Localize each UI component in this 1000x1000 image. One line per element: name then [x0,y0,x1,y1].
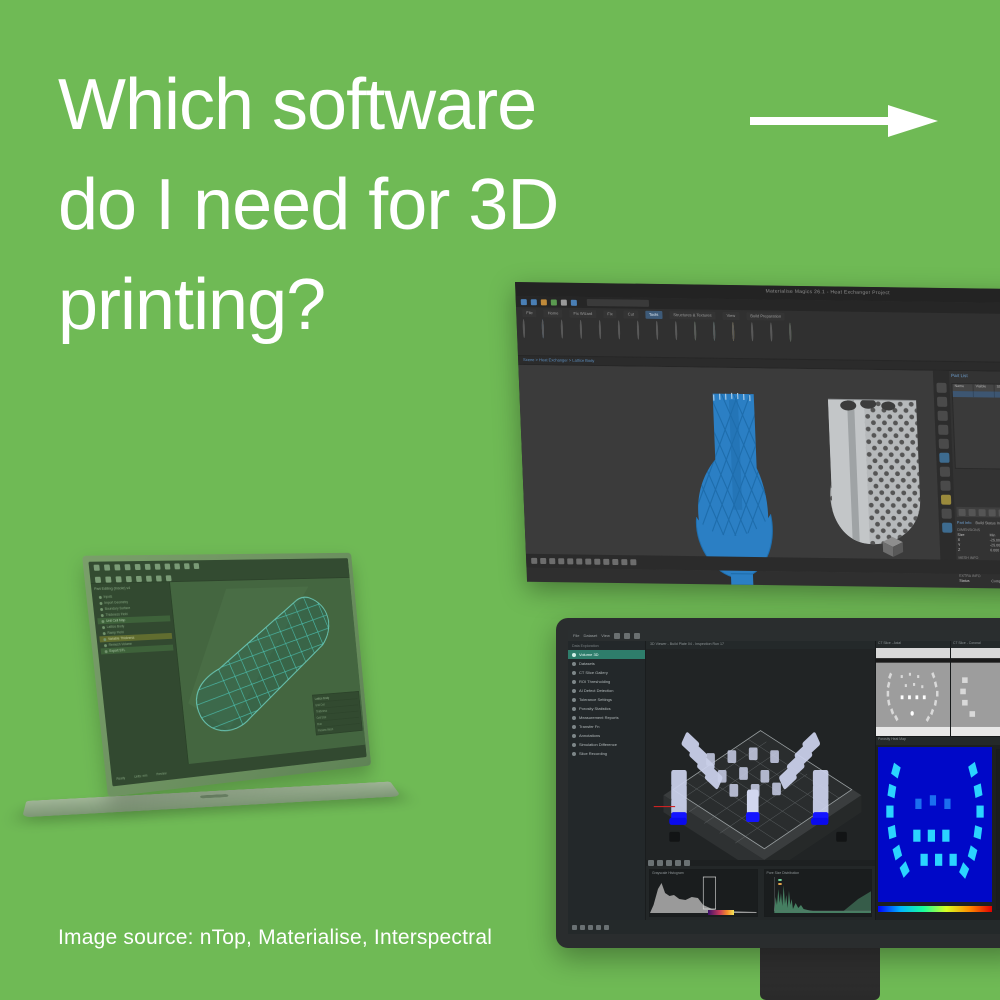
sidebar[interactable]: Data Exploration Volume 3D Datasets CT S… [568,641,646,920]
step-icon[interactable] [588,925,593,930]
ribbon-tab-tools[interactable]: Tools [645,311,663,319]
report-icon [572,716,576,720]
ct-slice-title: CT Slice - Axial [876,641,950,648]
duplicate-icon[interactable] [988,509,995,516]
magics-body: Part List Name Visible Status Fix Part I… [518,365,1000,575]
open-icon[interactable] [531,299,537,305]
ntop-laptop[interactable]: Part Editing (Insole) v4 Inputs Import G… [20,555,440,855]
simulation-icon [572,743,576,747]
delete-icon[interactable] [978,509,985,516]
field-icon[interactable] [174,563,180,569]
ct-slice-image[interactable] [876,648,950,736]
grayscale-histogram-chart[interactable]: Grayscale Histogram [649,869,758,917]
menu-file[interactable]: File [573,633,579,638]
ribbon-button-hollow[interactable] [580,321,596,339]
ribbon-button-unit-cell[interactable] [732,323,748,341]
implicit-body-icon[interactable] [145,564,151,570]
sidebar-item-simulation-difference[interactable]: Simulation Difference [568,740,645,749]
ribbon-tab-fix[interactable]: Fix [603,310,617,318]
ntop-viewport[interactable]: Lattice Body Unit Cell Thickness Cell Si… [170,578,366,764]
ribbon-button-texture[interactable] [713,323,729,341]
rotate-icon[interactable] [938,411,948,421]
magics-title-text: Materialise Magics 26.1 - Heat Exchanger… [765,288,890,296]
node-icon [99,595,102,598]
print-icon[interactable] [571,299,577,305]
status-units: Units: mm [134,774,147,779]
ct-slice-image[interactable] [951,648,1000,736]
analyze-icon[interactable] [942,523,952,533]
node-icon [105,650,108,653]
ai-icon [572,689,576,693]
sidebar-item-porosity-statistics[interactable]: Porosity Statistics [568,704,645,713]
pore-size-distribution-chart[interactable]: Pore Size Distribution [764,869,873,917]
ct-slice-coronal[interactable]: CT Slice - Coronal [951,641,1000,736]
honeycomb-shell[interactable] [819,387,931,568]
remesh-icon[interactable] [156,575,162,581]
ribbon-tab-home[interactable]: Home [544,309,563,317]
export-icon[interactable] [596,925,601,930]
sidebar-item-annotations[interactable]: Annotations [568,731,645,740]
ribbon-tab-view[interactable]: View [722,312,739,320]
ntop-workspace: Part Editing (Insole) v4 Inputs Import G… [91,578,366,773]
save-icon[interactable] [114,564,120,570]
sidebar-item-roi-thresholding[interactable]: ROI Thresholding [568,677,645,686]
mirror-icon[interactable] [939,439,949,449]
part-list-header: Part List [951,373,968,378]
undo-icon[interactable] [551,299,557,305]
status-ready: Ready [116,776,125,781]
ribbon-tab-cut[interactable]: Cut [624,310,639,318]
ribbon-tab-file[interactable]: File [522,309,537,317]
node-icon [101,620,104,623]
open-icon[interactable] [104,564,110,570]
right-panel: CT Slice - Axial [876,641,1000,920]
ribbon-button-boolean[interactable] [656,322,672,340]
view-cube-icon[interactable] [879,535,906,559]
sidebar-item-measurement-reports[interactable]: Measurement Reports [568,713,645,722]
colormap-swatch [708,910,734,915]
threshold-icon [572,680,576,684]
materialise-magics-screen[interactable]: Materialise Magics 26.1 - Heat Exchanger… [515,282,1000,589]
ribbon-button-analyze[interactable] [770,324,786,342]
center-panel: 3D Viewer - Build Plate 04 - Inspection … [646,641,876,920]
select-icon[interactable] [95,577,101,583]
build-plate-3d-view[interactable] [646,649,875,860]
sidebar-item-transfer-fn[interactable]: Transfer Fn [568,722,645,731]
transfer-icon [572,725,576,729]
ribbon-button-export[interactable] [789,324,805,342]
status-preview: Preview [156,771,167,776]
heatmap-title: Porosity Heat Map [876,737,1000,745]
move-icon[interactable] [937,397,947,407]
stats-icon [572,707,576,711]
lattice-icon[interactable] [941,495,951,505]
magics-right-panel[interactable]: Part List Name Visible Status Fix Part I… [933,371,1000,575]
settings-icon[interactable] [634,633,640,639]
section-icon[interactable] [940,467,950,477]
redo-icon[interactable] [561,299,567,305]
ribbon-button-triangle[interactable] [599,321,615,339]
part-tree-header: Part Editing (Insole) v4 [94,585,167,591]
properties-panel[interactable]: Lattice Body Unit Cell Thickness Cell Si… [312,691,363,736]
play-icon[interactable] [572,925,577,930]
ribbon-button-shell[interactable] [542,320,558,338]
right-arrow-icon[interactable] [750,104,938,138]
grid-icon[interactable] [612,559,618,565]
select-icon[interactable] [936,383,946,393]
image-source-caption: Image source: nTop, Materialise, Intersp… [58,926,492,950]
status-bar[interactable] [568,920,1000,934]
laptop-base [22,782,401,818]
annotation-icon [572,734,576,738]
intensity-scale[interactable] [996,749,1000,910]
pause-icon[interactable] [624,633,630,639]
property-toolbar[interactable] [956,507,1000,518]
tab-part-info[interactable]: Part Info [957,521,972,525]
search-input[interactable] [587,299,649,307]
sidebar-item-ct-slice-gallery[interactable]: CT Slice Gallery [568,668,645,677]
ribbon-tab-build-prep[interactable]: Build Preparation [746,312,785,321]
rotate-icon[interactable] [116,576,122,582]
ribbon-button-mesh[interactable] [523,320,539,338]
node-icon [99,601,102,604]
ribbon-button-smooth[interactable] [637,322,653,340]
volume-icon [572,653,576,657]
property-tabs[interactable]: Part Info Build Status Info [957,521,1000,526]
warning-icon [103,638,106,641]
sidebar-item-ai-defect-detection[interactable]: AI Defect Detection [568,686,645,695]
sidebar-item-datasets[interactable]: Datasets [568,659,645,668]
ribbon-tab-fix-wizard[interactable]: Fix Wizard [569,310,596,318]
move-icon[interactable] [105,577,111,583]
ct-slice-axial[interactable]: CT Slice - Axial [876,641,951,736]
support-icon[interactable] [941,509,951,519]
measure-icon[interactable] [939,453,949,463]
interspectral-main: Data Exploration Volume 3D Datasets CT S… [568,641,1000,920]
magics-viewport[interactable] [518,365,941,574]
laptop-lid: Part Editing (Insole) v4 Inputs Import G… [82,553,371,797]
sidebar-item-slice-recording[interactable]: Slice Recording [568,749,645,758]
boolean-icon[interactable] [136,576,142,582]
shaded-icon[interactable] [576,558,582,564]
ribbon-button-support[interactable] [751,323,767,341]
ribbon-tab-structures[interactable]: Structures & Textures [669,311,716,320]
magics-ribbon[interactable]: File Home Fix Wizard Fix Cut Tools Struc… [516,296,1000,363]
part-list-grid[interactable]: Name Visible Status Fix [951,383,1000,470]
paste-icon[interactable] [968,509,975,516]
ntop-screen[interactable]: Part Editing (Insole) v4 Inputs Import G… [88,558,366,786]
hollow-icon[interactable] [940,481,950,491]
interspectral-monitor[interactable]: File Dataset View Data Exploration Volum… [556,618,1000,948]
pause-icon[interactable] [580,925,585,930]
new-icon[interactable] [521,299,527,305]
menu-view[interactable]: View [601,633,610,638]
fit-icon[interactable] [558,558,564,564]
analyze-icon[interactable] [166,575,172,581]
porosity-heatmap-panel: Porosity Heat Map [876,737,1000,920]
sidebar-item-volume-3d[interactable]: Volume 3D [568,650,645,659]
gallery-icon [572,671,576,675]
new-icon[interactable] [94,565,100,571]
measure-icon[interactable] [585,559,591,565]
trackpad[interactable] [200,794,229,798]
interspectral-screen[interactable]: File Dataset View Data Exploration Volum… [568,630,1000,934]
mesh-icon[interactable] [164,564,170,570]
ribbon-button-lattice[interactable] [694,322,710,340]
porosity-heatmap[interactable] [878,747,992,902]
node-icon [103,632,106,635]
ct-slice-row: CT Slice - Axial [876,641,1000,737]
menu-dataset[interactable]: Dataset [583,633,597,638]
clip-icon[interactable] [594,559,600,565]
save-icon[interactable] [541,299,547,305]
node-icon [104,644,107,647]
chart-dock: Grayscale Histogram Pore Size Distributi… [646,866,875,920]
heatmap-colorbar[interactable] [878,906,992,912]
scale-icon[interactable] [938,425,948,435]
dataset-icon [572,662,576,666]
settings-icon[interactable] [604,925,609,930]
zoom-icon[interactable] [531,558,537,564]
node-icon [101,613,104,616]
export-icon[interactable] [194,563,200,569]
record-icon [572,752,576,756]
node-icon [102,626,105,629]
app-menu-bar[interactable]: File Dataset View [568,630,1000,641]
property-row: StatusCompensated [959,579,1000,585]
copy-icon[interactable] [958,508,965,515]
scale-icon[interactable] [126,576,132,582]
ct-slice-title: CT Slice - Coronal [951,641,1000,648]
node-icon [100,607,103,610]
rotate-icon[interactable] [549,558,555,564]
undo-icon[interactable] [124,564,130,570]
simulation-icon[interactable] [184,563,190,569]
lattice-icon[interactable] [155,564,161,570]
shell-icon[interactable] [146,576,152,582]
ribbon-button-reduce[interactable] [618,321,634,339]
snapshot-icon[interactable] [603,559,609,565]
wireframe-icon[interactable] [567,558,573,564]
sidebar-item-tolerance-settings[interactable]: Tolerance Settings [568,695,645,704]
play-icon[interactable] [614,633,620,639]
redo-icon[interactable] [135,564,141,570]
table-row[interactable] [953,391,1000,398]
tab-build-status[interactable]: Build Status Info [975,521,1000,525]
ribbon-button-offset[interactable] [561,321,577,339]
tolerance-icon [572,698,576,702]
viewer-tab[interactable]: 3D Viewer - Build Plate 04 - Inspection … [646,641,875,649]
axis-icon[interactable] [621,559,627,565]
chart-legend [778,879,781,885]
property-row: Z0.000102.400 [958,548,1000,554]
ribbon-button-split[interactable] [675,322,691,340]
light-icon[interactable] [630,559,636,565]
pan-icon[interactable] [540,558,546,564]
